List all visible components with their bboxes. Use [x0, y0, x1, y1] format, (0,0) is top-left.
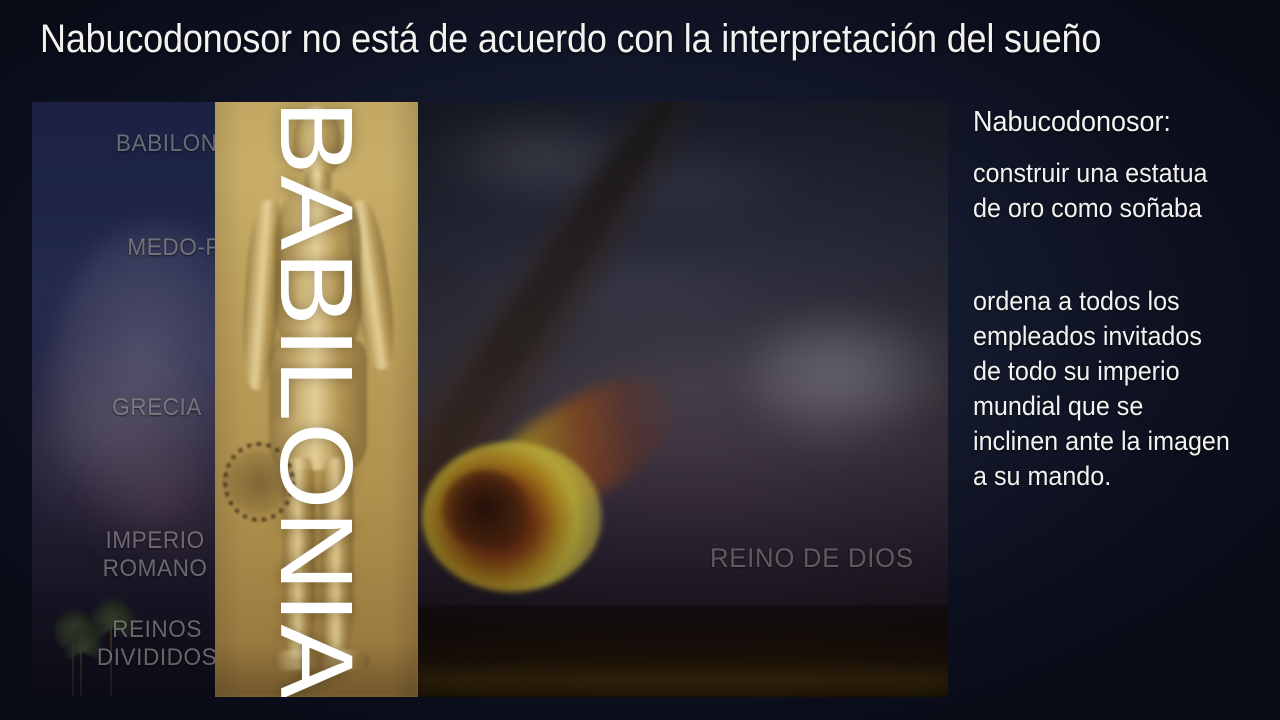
paragraph-line: de oro como soñaba — [973, 191, 1250, 226]
paragraph-line: ordena a todos los — [973, 284, 1250, 319]
scene-vignette — [418, 102, 948, 697]
kingdom-label-reinos-divididos: REINOS DIVIDIDOS — [39, 616, 220, 672]
kingdom-label-line: DIVIDIDOS — [97, 644, 217, 671]
right-column-paragraph-1: construir una estatua de oro como soñaba — [973, 156, 1250, 226]
reino-de-dios-label: REINO DE DIOS — [710, 542, 914, 574]
statue-right-arm — [343, 198, 400, 371]
statue-right-leg — [321, 458, 353, 658]
paragraph-line: inclinen ante la imagen — [973, 424, 1250, 459]
page-title: Nabucodonosor no está de acuerdo con la … — [40, 14, 1102, 64]
meteor-sky-panel: REINO DE DIOS — [418, 102, 948, 697]
kingdom-label-imperio-romano: IMPERIO ROMANO — [39, 527, 220, 583]
paragraph-line: empleados invitados — [973, 319, 1250, 354]
statue-left-arm — [238, 199, 285, 391]
paragraph-line: mundial que se — [973, 389, 1250, 424]
right-column-paragraph-2: ordena a todos los empleados invitados d… — [973, 284, 1250, 494]
kingdom-label-line: ROMANO — [103, 555, 208, 582]
kingdom-label-medo-persia: MEDO-PERSI — [40, 234, 220, 262]
statue-right-foot — [319, 650, 369, 670]
golden-statue-panel — [215, 102, 418, 697]
statue-torso — [275, 190, 361, 350]
kingdom-label-line: IMPERIO — [105, 527, 204, 554]
kingdom-label-babilonia: BABILON — [39, 130, 220, 158]
statue-left-leg — [283, 458, 315, 658]
slide-image-composite: BABILON MEDO-PERSI GRECIA IMPERIO ROMANO… — [32, 102, 948, 697]
statue-shield — [223, 442, 295, 522]
statue-skirt — [269, 340, 367, 470]
kingdoms-sky-panel: BABILON MEDO-PERSI GRECIA IMPERIO ROMANO… — [32, 102, 220, 697]
statue-neck — [305, 170, 331, 196]
statue-ground — [215, 645, 418, 697]
paragraph-line: construir una estatua — [973, 156, 1250, 191]
paragraph-line: a su mando. — [973, 459, 1250, 494]
statue-head — [293, 106, 341, 178]
right-column-heading: Nabucodonosor: — [973, 104, 1250, 140]
statue-left-foot — [273, 650, 323, 670]
gold-statue-figure — [215, 102, 418, 697]
kingdom-label-line: REINOS — [112, 616, 202, 643]
kingdom-label-grecia: GRECIA — [39, 394, 220, 422]
paragraph-line: de todo su imperio — [973, 354, 1250, 389]
presentation-slide: Nabucodonosor no está de acuerdo con la … — [0, 0, 1280, 720]
right-text-column: Nabucodonosor: construir una estatua de … — [973, 104, 1271, 494]
